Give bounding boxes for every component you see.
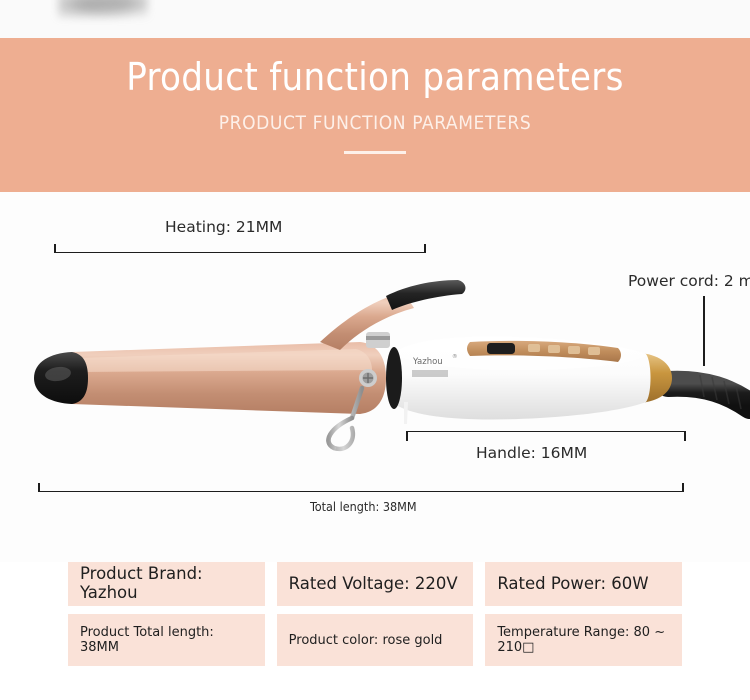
spec-product-color: Product color: rose gold bbox=[277, 614, 474, 666]
handle-dimension-label: Handle: 16MM bbox=[476, 444, 587, 462]
spec-product-brand: Product Brand: Yazhou bbox=[68, 562, 265, 606]
product-diagram: Yazhou ® Heating: 21MM Power cord: 2 m bbox=[0, 192, 750, 562]
top-strip bbox=[0, 0, 750, 38]
power-cord-label: Power cord: 2 m bbox=[628, 272, 750, 290]
handle-model-text-blurred bbox=[412, 370, 448, 377]
handle-hook bbox=[404, 402, 408, 424]
clamp-lever bbox=[386, 280, 465, 310]
blurred-watermark bbox=[58, 0, 148, 18]
handle-dimension-bracket bbox=[406, 431, 686, 432]
specifications-grid: Product Brand: Yazhou Rated Voltage: 220… bbox=[0, 562, 750, 658]
total-length-dimension-label: Total length: 38MM bbox=[310, 499, 417, 514]
spec-product-total-length: Product Total length: 38MM bbox=[68, 614, 265, 666]
header-banner: Product function parameters PRODUCT FUNC… bbox=[0, 38, 750, 192]
spec-rated-voltage: Rated Voltage: 220V bbox=[277, 562, 474, 606]
handle-barrel-collar bbox=[386, 347, 402, 409]
page-title: Product function parameters bbox=[0, 38, 750, 100]
header-divider bbox=[344, 151, 406, 154]
power-cord-leader-line bbox=[703, 296, 705, 366]
spec-temperature-range: Temperature Range: 80 ~ 210□ bbox=[485, 614, 682, 666]
power-switch bbox=[487, 343, 515, 354]
spec-rated-power: Rated Power: 60W bbox=[485, 562, 682, 606]
total-length-dimension-bracket bbox=[38, 491, 684, 492]
heating-dimension-label: Heating: 21MM bbox=[165, 218, 282, 236]
handle-brand-text: Yazhou bbox=[412, 357, 443, 367]
page-subtitle: PRODUCT FUNCTION PARAMETERS bbox=[0, 100, 750, 134]
heating-dimension-bracket bbox=[54, 252, 426, 253]
svg-text:®: ® bbox=[452, 353, 458, 360]
